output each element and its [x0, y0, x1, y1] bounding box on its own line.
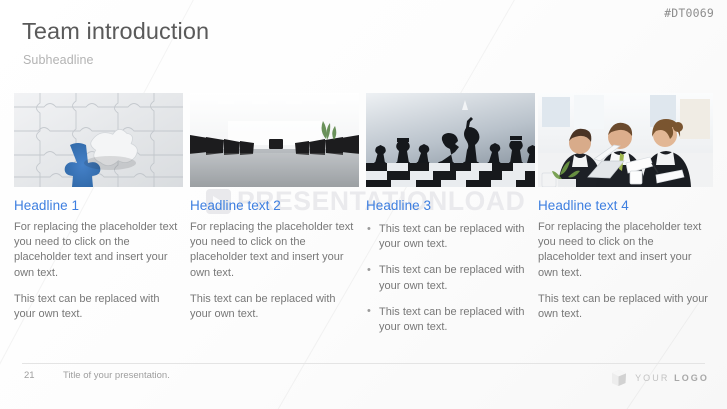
business-team-meeting-photo[interactable]	[538, 93, 713, 187]
logo-text-pre: YOUR	[635, 373, 674, 383]
logo: YOUR LOGO	[609, 368, 709, 387]
list-item: This text can be replaced with your own …	[366, 222, 535, 252]
footer-divider	[22, 363, 705, 364]
slide-canvas: #DT0069 Team introduction Subheadline	[0, 0, 727, 409]
list-item: This text can be replaced with your own …	[366, 305, 535, 335]
page-subtitle: Subheadline	[23, 53, 94, 67]
page-number: 21	[24, 370, 35, 381]
content-column: Headline text 4 For replacing the placeh…	[538, 93, 713, 322]
content-column: Headline 1 For replacing the placeholder…	[14, 93, 183, 322]
list-item: This text can be replaced with your own …	[366, 263, 535, 293]
column-headline: Headline 1	[14, 198, 183, 213]
empty-conference-room-photo[interactable]	[190, 93, 359, 187]
column-paragraph: This text can be replaced with your own …	[14, 292, 183, 322]
column-paragraph: For replacing the placeholder text you n…	[14, 220, 183, 281]
column-paragraph: For replacing the placeholder text you n…	[538, 220, 713, 281]
content-column: Headline text 2 For replacing the placeh…	[190, 93, 359, 322]
column-paragraph: This text can be replaced with your own …	[538, 292, 713, 322]
cube-logo-icon	[609, 368, 628, 387]
column-headline: Headline text 2	[190, 198, 359, 213]
logo-text-bold: LOGO	[674, 373, 709, 383]
logo-text: YOUR LOGO	[635, 373, 709, 383]
chess-board-black-pieces-photo[interactable]	[366, 93, 535, 187]
column-headline: Headline text 4	[538, 198, 713, 213]
footer-title: Title of your presentation.	[63, 370, 170, 381]
column-paragraph: This text can be replaced with your own …	[190, 292, 359, 322]
column-headline: Headline 3	[366, 198, 535, 213]
page-title: Team introduction	[22, 18, 209, 45]
document-id: #DT0069	[664, 6, 714, 20]
column-paragraph: For replacing the placeholder text you n…	[190, 220, 359, 281]
jigsaw-puzzle-missing-piece-photo[interactable]	[14, 93, 183, 187]
column-bullet-list: This text can be replaced with your own …	[366, 222, 535, 335]
content-column: Headline 3 This text can be replaced wit…	[366, 93, 535, 346]
